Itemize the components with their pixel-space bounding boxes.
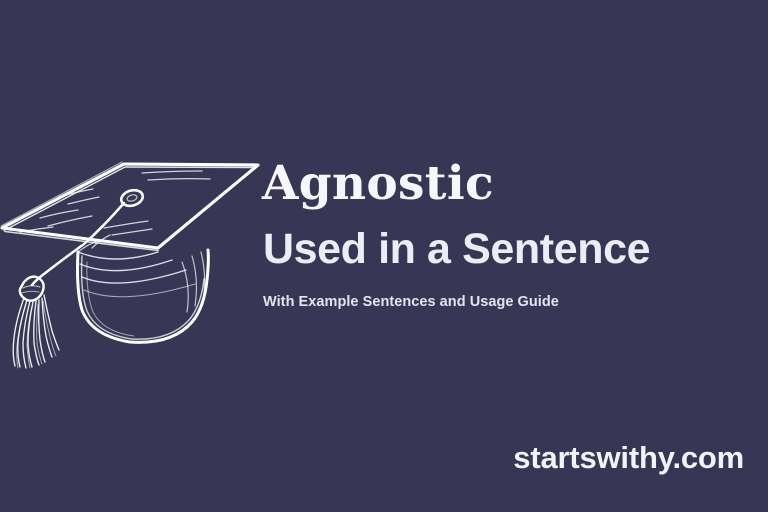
- tassel-head: [20, 277, 44, 301]
- cap-base-contours: [78, 252, 195, 297]
- tassel-strands: [13, 295, 59, 368]
- cap-junction: [78, 235, 110, 252]
- page-title-phrase: Used in a Sentence: [263, 227, 762, 273]
- page-subtitle: With Example Sentences and Usage Guide: [263, 294, 762, 311]
- tassel-cord: [32, 203, 124, 285]
- mortarboard-outline: [1, 162, 258, 251]
- brand-name: startswithy.com: [513, 440, 744, 475]
- mortarboard-hatching: [20, 171, 210, 235]
- tassel-strands-secondary: [17, 301, 56, 368]
- graduation-cap-icon: [0, 140, 276, 370]
- cap-base-folds: [182, 252, 205, 312]
- cap-base-outline: [78, 250, 209, 342]
- page-title-word: Agnostic: [262, 160, 762, 209]
- cap-button-icon: [119, 188, 144, 208]
- word-banner: Agnostic Used in a Sentence With Example…: [0, 0, 768, 512]
- headline-block: Agnostic Used in a Sentence With Example…: [262, 160, 762, 312]
- brand-footer: startswithy.com: [324, 440, 744, 476]
